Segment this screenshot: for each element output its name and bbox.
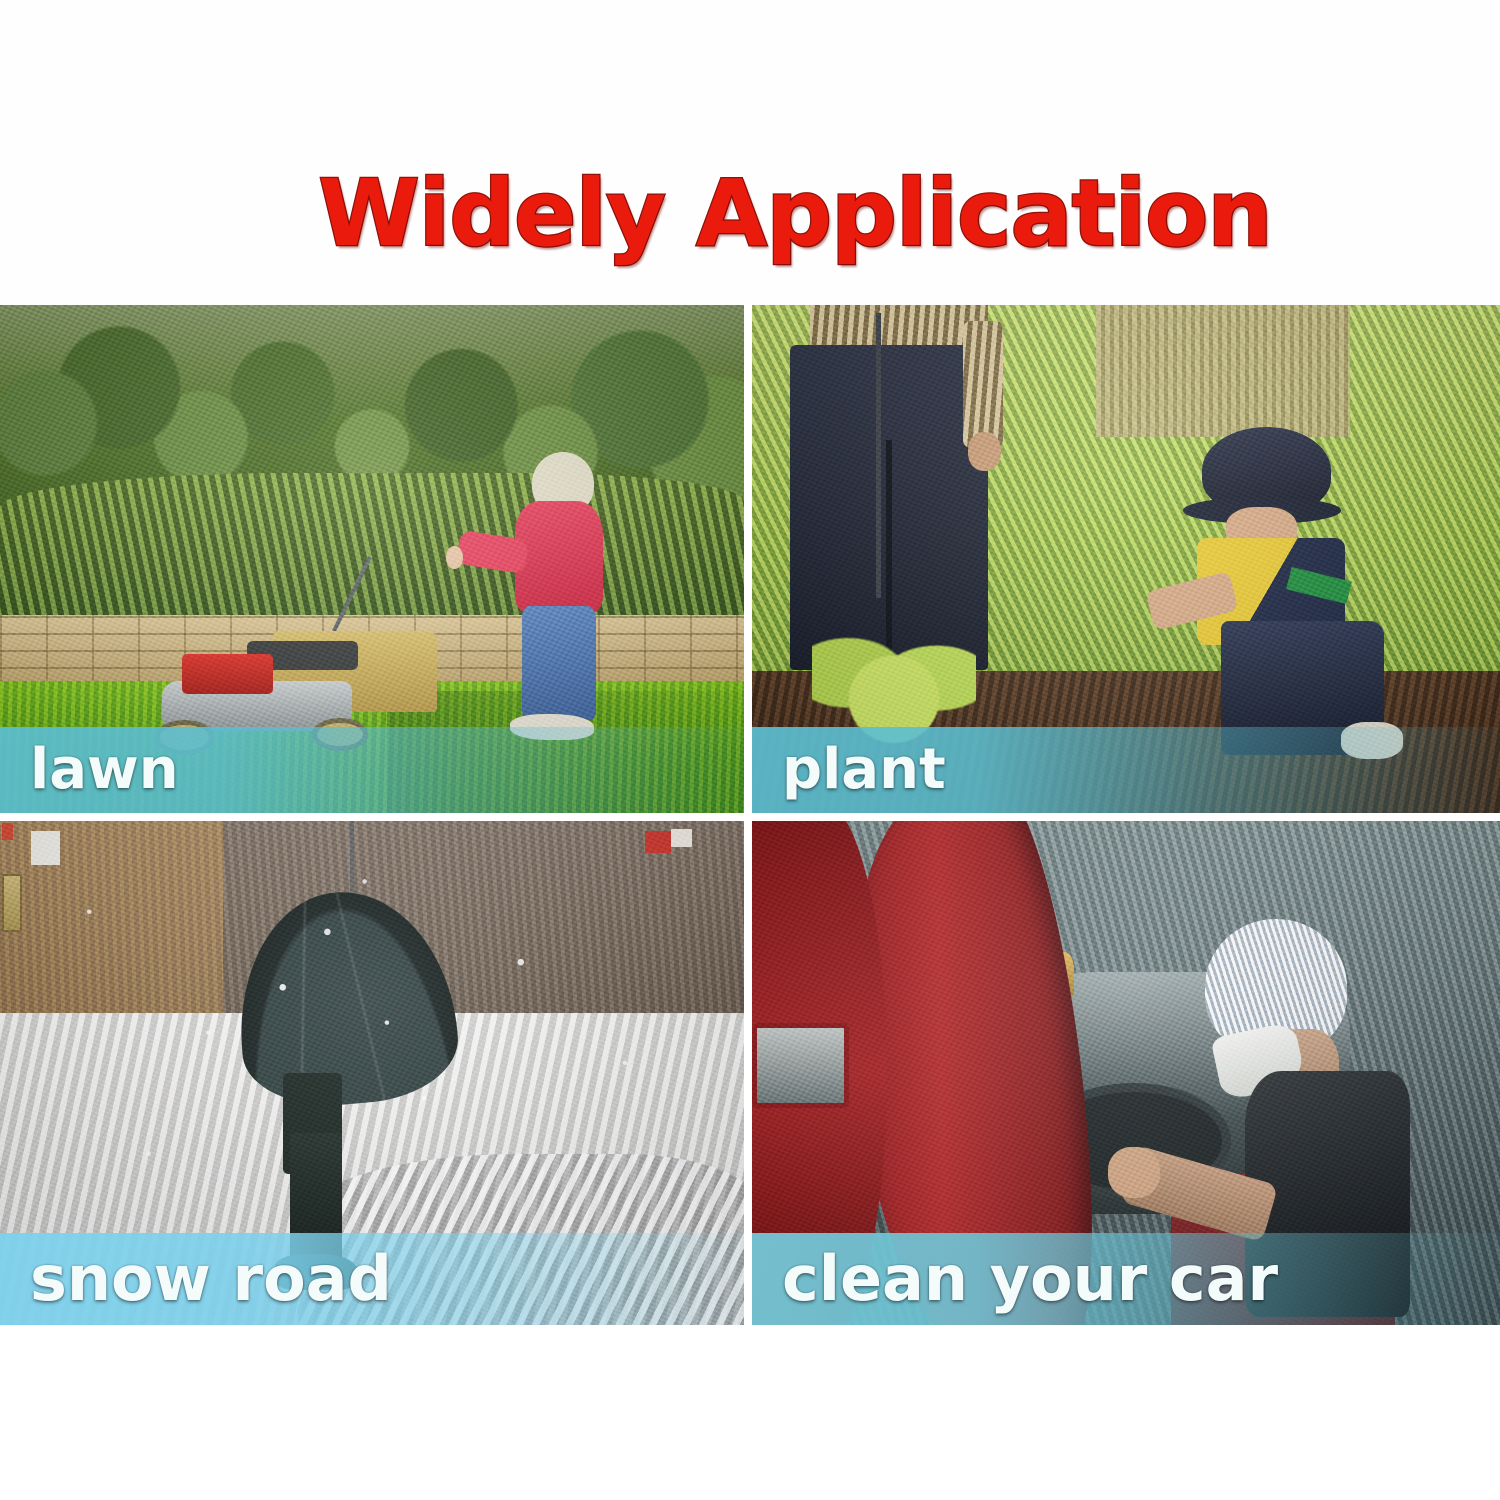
caption-label-clean-your-car: clean your car [782,1246,1278,1312]
bottom-white-margin [0,1325,1500,1500]
application-showcase-page: Widely Application [0,0,1500,1500]
garden-fence [1096,305,1350,437]
adult-arm [963,321,1004,448]
panel-plant[interactable]: plant [752,305,1500,813]
caption-band-plant: plant [752,727,1500,813]
street-pole [350,821,354,902]
panel-lawn[interactable]: lawn [0,305,744,813]
caption-label-plant: plant [782,740,946,800]
cleaner-hand [1108,1147,1159,1198]
adult-hand [968,432,1001,472]
shop-sign-red [645,831,671,853]
page-title: Widely Application [0,166,1500,262]
panel-snow-road[interactable]: snow road [0,821,744,1325]
side-mirror [752,1023,849,1109]
caption-band-clean-your-car: clean your car [752,1233,1500,1325]
caption-label-snow-road: snow road [30,1246,392,1312]
person-jeans [522,606,596,720]
shop-door [2,874,22,932]
mower-engine [182,654,274,694]
person-hand [446,546,463,569]
caption-label-lawn: lawn [30,740,179,800]
caption-band-snow-road: snow road [0,1233,744,1325]
shop-sign-white [671,829,692,847]
person-mowing [498,452,617,736]
child-gardener [1163,427,1402,762]
panel-clean-your-car[interactable]: clean your car [752,821,1500,1325]
application-grid: lawn [0,305,1500,1325]
hedge-row [0,473,744,630]
shop-window [31,831,60,865]
caption-band-lawn: lawn [0,727,744,813]
person-pink-top [515,501,603,615]
garden-tool-handle [876,313,881,598]
awning-sign [2,823,13,840]
title-banner: Widely Application [0,0,1500,305]
